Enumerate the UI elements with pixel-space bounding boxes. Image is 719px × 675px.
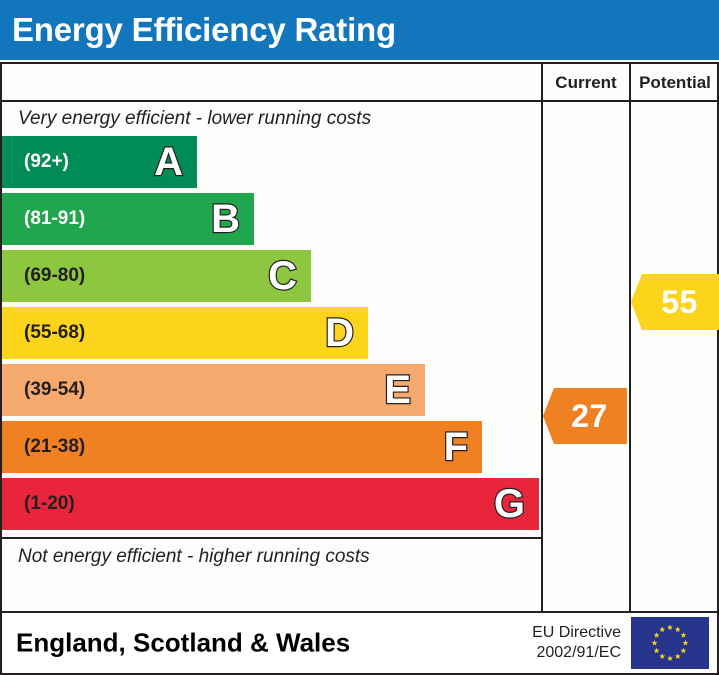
directive-line-2: 2002/91/EC [532, 643, 621, 663]
band-letter-e: E [384, 370, 411, 410]
band-bar-d: (55-68)D [2, 307, 368, 359]
footer-directive: EU Directive 2002/91/EC [532, 623, 621, 663]
directive-line-1: EU Directive [532, 623, 621, 643]
column-header-potential: Potential [631, 64, 719, 102]
eu-flag-star [680, 632, 686, 638]
band-range-c: (69-80) [24, 265, 85, 287]
band-letter-c: C [268, 256, 297, 296]
band-range-f: (21-38) [24, 436, 85, 458]
column-divider-current [541, 64, 543, 611]
band-range-a: (92+) [24, 151, 69, 173]
column-header-current: Current [543, 64, 629, 102]
caption-efficient: Very energy efficient - lower running co… [2, 102, 539, 136]
eu-flag-star [659, 653, 665, 659]
eu-flag-star [683, 640, 689, 646]
band-bar-b: (81-91)B [2, 193, 254, 245]
eu-flag-star [659, 626, 665, 632]
title-banner: Energy Efficiency Rating [0, 0, 719, 60]
band-bar-a: (92+)A [2, 136, 197, 188]
band-range-d: (55-68) [24, 322, 85, 344]
energy-efficiency-rating-certificate: Energy Efficiency Rating Current Potenti… [0, 0, 719, 675]
band-bar-f: (21-38)F [2, 421, 482, 473]
rating-value-current: 27 [562, 400, 608, 432]
column-divider-potential [629, 64, 631, 611]
band-bar-g: (1-20)G [2, 478, 539, 530]
band-range-e: (39-54) [24, 379, 85, 401]
eu-flag-star [675, 626, 681, 632]
rating-marker-potential: 55 [631, 274, 719, 330]
band-range-b: (81-91) [24, 208, 85, 230]
eu-flag-star [654, 648, 660, 654]
footer-bar: England, Scotland & Wales EU Directive 2… [0, 613, 719, 675]
eu-flag-icon [631, 617, 709, 669]
band-letter-b: B [211, 199, 240, 239]
caption-inefficient: Not energy efficient - higher running co… [2, 537, 539, 571]
footer-region-label: England, Scotland & Wales [16, 628, 350, 659]
eu-flag-star [667, 624, 673, 630]
eu-flag-star [652, 640, 658, 646]
band-range-g: (1-20) [24, 493, 75, 515]
page-title: Energy Efficiency Rating [12, 11, 396, 49]
band-letter-d: D [325, 313, 354, 353]
rating-table: Current Potential Very energy efficient … [0, 62, 719, 613]
band-letter-f: F [444, 427, 468, 467]
eu-flag-star [680, 648, 686, 654]
eu-flag-star [667, 655, 673, 661]
band-bar-c: (69-80)C [2, 250, 311, 302]
eu-flag-star [654, 632, 660, 638]
eu-flag-star [675, 653, 681, 659]
rating-marker-current: 27 [543, 388, 627, 444]
band-letter-g: G [494, 484, 525, 524]
rating-value-potential: 55 [652, 286, 698, 318]
band-bar-e: (39-54)E [2, 364, 425, 416]
band-bars: (92+)A(81-91)B(69-80)C(55-68)D(39-54)E(2… [2, 136, 539, 536]
band-letter-a: A [154, 142, 183, 182]
